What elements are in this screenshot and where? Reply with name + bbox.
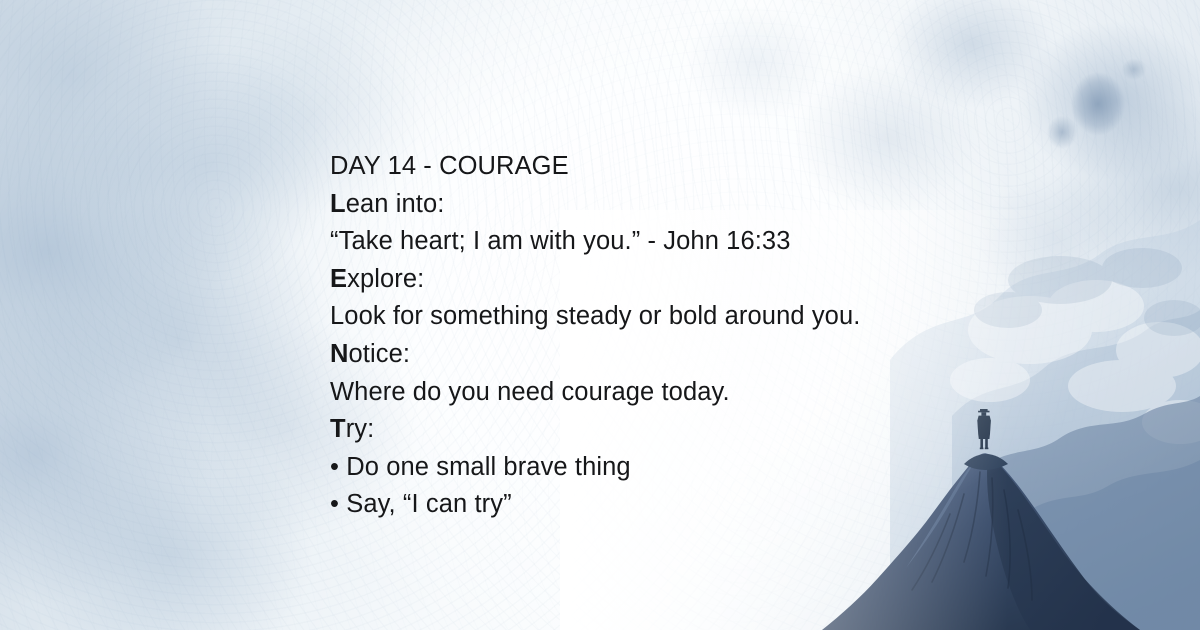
line-notice-label-text: otice: xyxy=(349,340,411,368)
line-lean-body-text: “Take heart; I am with you.” - John 16:3… xyxy=(330,227,791,255)
devotional-text-block: DAY 14 - COURAGE Lean into: “Take heart;… xyxy=(330,148,1050,524)
line-lean-label: Lean into: xyxy=(330,186,1050,224)
line-try-bullet-1: • Do one small brave thing xyxy=(330,449,1050,487)
line-notice-body: Where do you need courage today. xyxy=(330,374,1050,412)
acrostic-letter-n: N xyxy=(330,340,349,368)
line-notice-body-text: Where do you need courage today. xyxy=(330,378,730,406)
acrostic-letter-e: E xyxy=(330,265,347,293)
line-try-bullet-2-text: • Say, “I can try” xyxy=(330,490,512,518)
devotional-card: DAY 14 - COURAGE Lean into: “Take heart;… xyxy=(0,0,1200,630)
line-lean-body: “Take heart; I am with you.” - John 16:3… xyxy=(330,223,1050,261)
line-title: DAY 14 - COURAGE xyxy=(330,148,1050,186)
line-try-label-text: ry: xyxy=(346,415,375,443)
line-explore-body: Look for something steady or bold around… xyxy=(330,298,1050,336)
line-lean-label-text: ean into: xyxy=(346,190,445,218)
acrostic-letter-l: L xyxy=(330,190,346,218)
acrostic-letter-t: T xyxy=(330,415,346,443)
line-title-text: DAY 14 - COURAGE xyxy=(330,152,569,180)
line-notice-label: Notice: xyxy=(330,336,1050,374)
line-explore-label-text: xplore: xyxy=(347,265,424,293)
line-try-bullet-1-text: • Do one small brave thing xyxy=(330,453,631,481)
line-explore-body-text: Look for something steady or bold around… xyxy=(330,302,860,330)
line-try-label: Try: xyxy=(330,411,1050,449)
line-try-bullet-2: • Say, “I can try” xyxy=(330,486,1050,524)
line-explore-label: Explore: xyxy=(330,261,1050,299)
